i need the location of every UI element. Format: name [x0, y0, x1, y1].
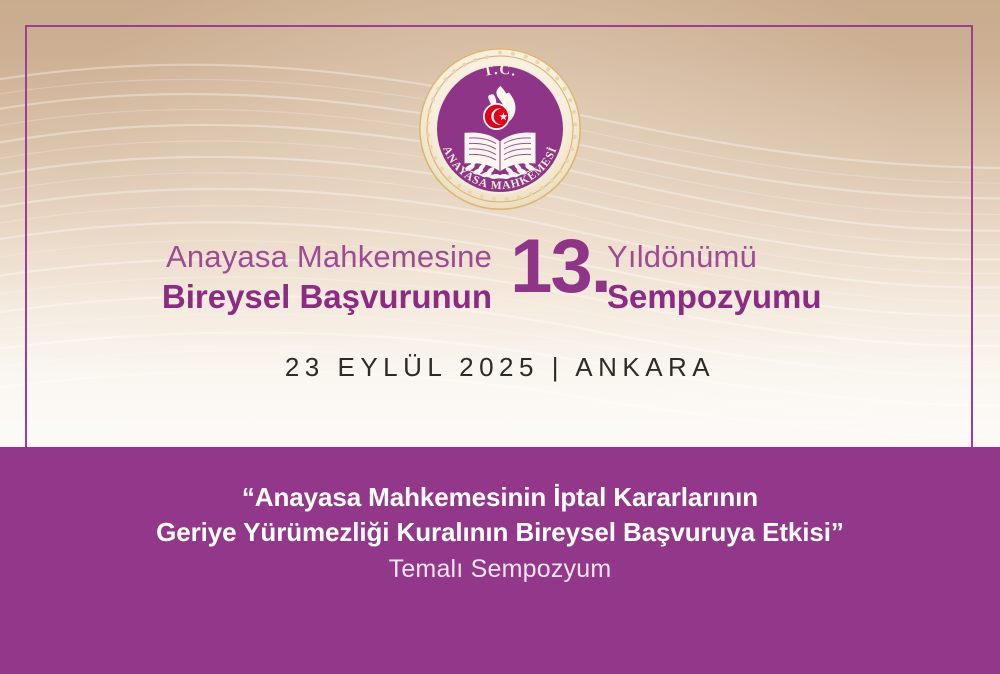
- headline-line2-bold: Bireysel Başvurunun: [162, 276, 492, 318]
- headline-line2-right-bold: Sempozyumu: [607, 276, 822, 318]
- anniversary-numeral: 13.: [500, 229, 620, 305]
- headline-line1-thin: Anayasa Mahkemesine: [162, 238, 492, 276]
- headline-line1-right-thin: Yıldönümü: [607, 238, 822, 276]
- headline-right-column: Yıldönümü Sempozyumu: [607, 238, 822, 318]
- constitutional-court-emblem: T.C. ANAYASA MAHKEMESİ: [417, 46, 583, 212]
- symposium-theme-quote: “Anayasa Mahkemesinin İptal Kararlarının…: [0, 480, 1000, 588]
- headline-block: Anayasa Mahkemesine Bireysel Başvurunun …: [0, 238, 1000, 328]
- headline-left-column: Anayasa Mahkemesine Bireysel Başvurunun: [162, 238, 492, 318]
- event-date-location: 23 EYLÜL 2025 | ANKARA: [0, 352, 1000, 383]
- theme-subtitle: Temalı Sempozyum: [0, 550, 1000, 588]
- theme-band: “Anayasa Mahkemesinin İptal Kararlarının…: [0, 447, 1000, 674]
- symposium-poster: T.C. ANAYASA MAHKEMESİ: [0, 0, 1000, 674]
- theme-quote-line2: Geriye Yürümezliği Kuralının Bireysel Ba…: [0, 515, 1000, 550]
- theme-quote-line1: “Anayasa Mahkemesinin İptal Kararlarının: [0, 480, 1000, 515]
